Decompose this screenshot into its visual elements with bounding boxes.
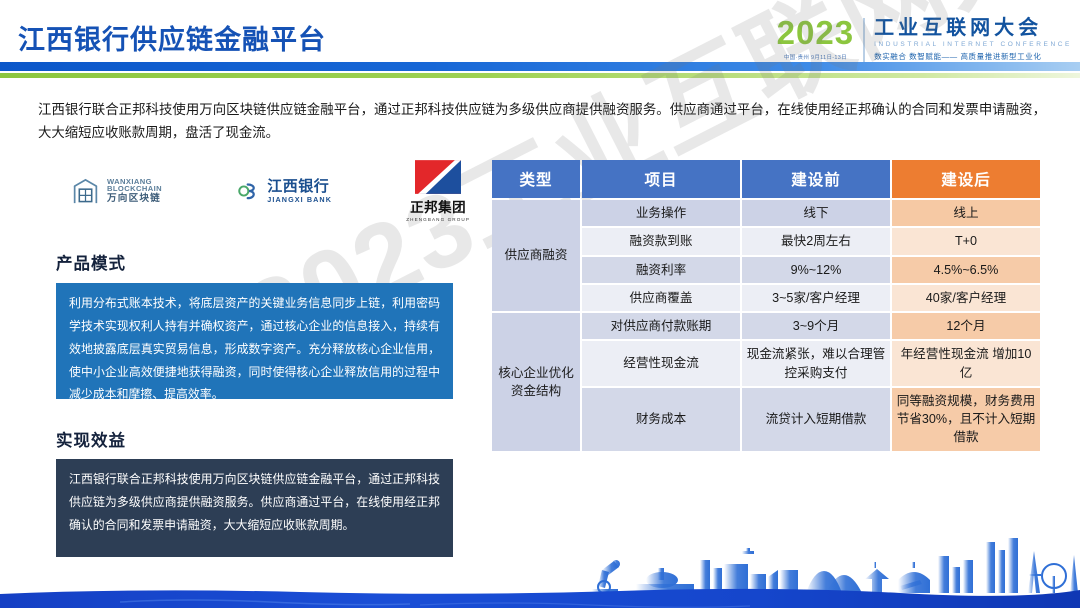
logo-wanxiang-blockchain: WANXIANG BLOCKCHAIN 万向区块链: [70, 176, 162, 207]
table-cell-item: 对供应商付款账期: [582, 313, 740, 339]
table-cell-after: 12个月: [892, 313, 1040, 339]
table-header-after: 建设后: [892, 160, 1040, 198]
benefit-title: 实现效益: [56, 427, 126, 451]
jiangxi-bank-cn: 江西银行: [267, 179, 332, 195]
table-cell-before: 流贷计入短期借款: [742, 388, 890, 451]
table-header-row: 类型 项目 建设前 建设后: [492, 160, 1040, 198]
conference-year-block: 2023 中国·贵州 9月11日-13日: [777, 16, 863, 61]
partner-logo-row: WANXIANG BLOCKCHAIN 万向区块链 江西银行 JIANGXI B…: [70, 158, 470, 224]
conference-logo: 2023 中国·贵州 9月11日-13日 工业互联网大会 INDUSTRIAL …: [777, 16, 1072, 72]
table-cell-item: 融资利率: [582, 257, 740, 283]
conference-name-en: INDUSTRIAL INTERNET CONFERENCE: [874, 41, 1072, 48]
table-cell-category: 供应商融资: [492, 200, 580, 311]
table-row: 供应商融资 业务操作 线下 线上: [492, 200, 1040, 226]
table-cell-category: 核心企业优化资金结构: [492, 313, 580, 451]
product-mode-body: 利用分布式账本技术，将底层资产的关键业务信息同步上链，利用密码学技术实现权利人持…: [56, 283, 453, 399]
table-header-before: 建设前: [742, 160, 890, 198]
table-cell-after: 4.5%~6.5%: [892, 257, 1040, 283]
jiangxi-bank-logo-text: 江西银行 JIANGXI BANK: [267, 179, 332, 203]
conference-divider: [863, 18, 865, 62]
conference-slogan: 数实融合 数智赋能—— 高质量推进新型工业化: [874, 51, 1072, 62]
table-cell-after: 年经营性现金流 增加10亿: [892, 341, 1040, 386]
zhengbang-mark-icon: [415, 160, 461, 194]
zhengbang-en: ZHENGBANG GROUP: [406, 217, 470, 222]
table-header-type: 类型: [492, 160, 580, 198]
table-cell-after: T+0: [892, 228, 1040, 254]
table-cell-item: 经营性现金流: [582, 341, 740, 386]
comparison-table: 类型 项目 建设前 建设后 供应商融资 业务操作 线下 线上 融资款到账 最快2…: [490, 158, 1042, 453]
zhengbang-cn: 正邦集团: [410, 196, 466, 216]
table-cell-before: 9%~12%: [742, 257, 890, 283]
jiangxi-bank-en: JIANGXI BANK: [267, 196, 332, 204]
table-cell-after: 线上: [892, 200, 1040, 226]
wanxiang-mark-icon: [70, 176, 101, 207]
table-head: 类型 项目 建设前 建设后: [492, 160, 1040, 198]
product-mode-title: 产品模式: [56, 250, 126, 274]
intro-paragraph: 江西银行联合正邦科技使用万向区块链供应链金融平台，通过正邦科技供应链为多级供应商…: [38, 98, 1046, 144]
table-cell-item: 业务操作: [582, 200, 740, 226]
conference-name-cn: 工业互联网大会: [874, 17, 1072, 39]
table-cell-item: 供应商覆盖: [582, 285, 740, 311]
conference-name-block: 工业互联网大会 INDUSTRIAL INTERNET CONFERENCE 数…: [874, 16, 1072, 62]
header-rule-green: [0, 73, 1080, 78]
skyline-silhouette-icon: [592, 538, 1078, 593]
wanxiang-logo-text: WANXIANG BLOCKCHAIN 万向区块链: [107, 178, 162, 205]
page-title: 江西银行供应链金融平台: [18, 18, 326, 57]
footer-wave: [0, 589, 1080, 608]
table-row: 核心企业优化资金结构 对供应商付款账期 3~9个月 12个月: [492, 313, 1040, 339]
table-cell-before: 3~9个月: [742, 313, 890, 339]
benefit-body: 江西银行联合正邦科技使用万向区块链供应链金融平台，通过正邦科技供应链为多级供应商…: [56, 459, 453, 557]
comparison-table-wrap: 类型 项目 建设前 建设后 供应商融资 业务操作 线下 线上 融资款到账 最快2…: [490, 158, 1032, 453]
table-header-item: 项目: [582, 160, 740, 198]
table-cell-item: 财务成本: [582, 388, 740, 451]
table-cell-before: 现金流紧张，难以合理管控采购支付: [742, 341, 890, 386]
table-cell-item: 融资款到账: [582, 228, 740, 254]
wanxiang-cn: 万向区块链: [107, 194, 162, 204]
conference-date: 中国·贵州 9月11日-13日: [784, 53, 847, 61]
conference-year: 2023: [777, 16, 854, 49]
jiangxi-bank-mark-icon: [236, 178, 262, 204]
logo-zhengbang-group: 正邦集团 ZHENGBANG GROUP: [406, 160, 470, 222]
table-cell-after: 同等融资规模，财务费用节省30%，且不计入短期借款: [892, 388, 1040, 451]
table-cell-before: 3~5家/客户经理: [742, 285, 890, 311]
table-cell-before: 线下: [742, 200, 890, 226]
table-cell-after: 40家/客户经理: [892, 285, 1040, 311]
table-cell-before: 最快2周左右: [742, 228, 890, 254]
table-body: 供应商融资 业务操作 线下 线上 融资款到账 最快2周左右 T+0 融资利率 9…: [492, 200, 1040, 451]
slide-root: 江西银行供应链金融平台 2023 中国·贵州 9月11日-13日 工业互联网大会…: [0, 0, 1080, 608]
logo-jiangxi-bank: 江西银行 JIANGXI BANK: [236, 178, 332, 204]
